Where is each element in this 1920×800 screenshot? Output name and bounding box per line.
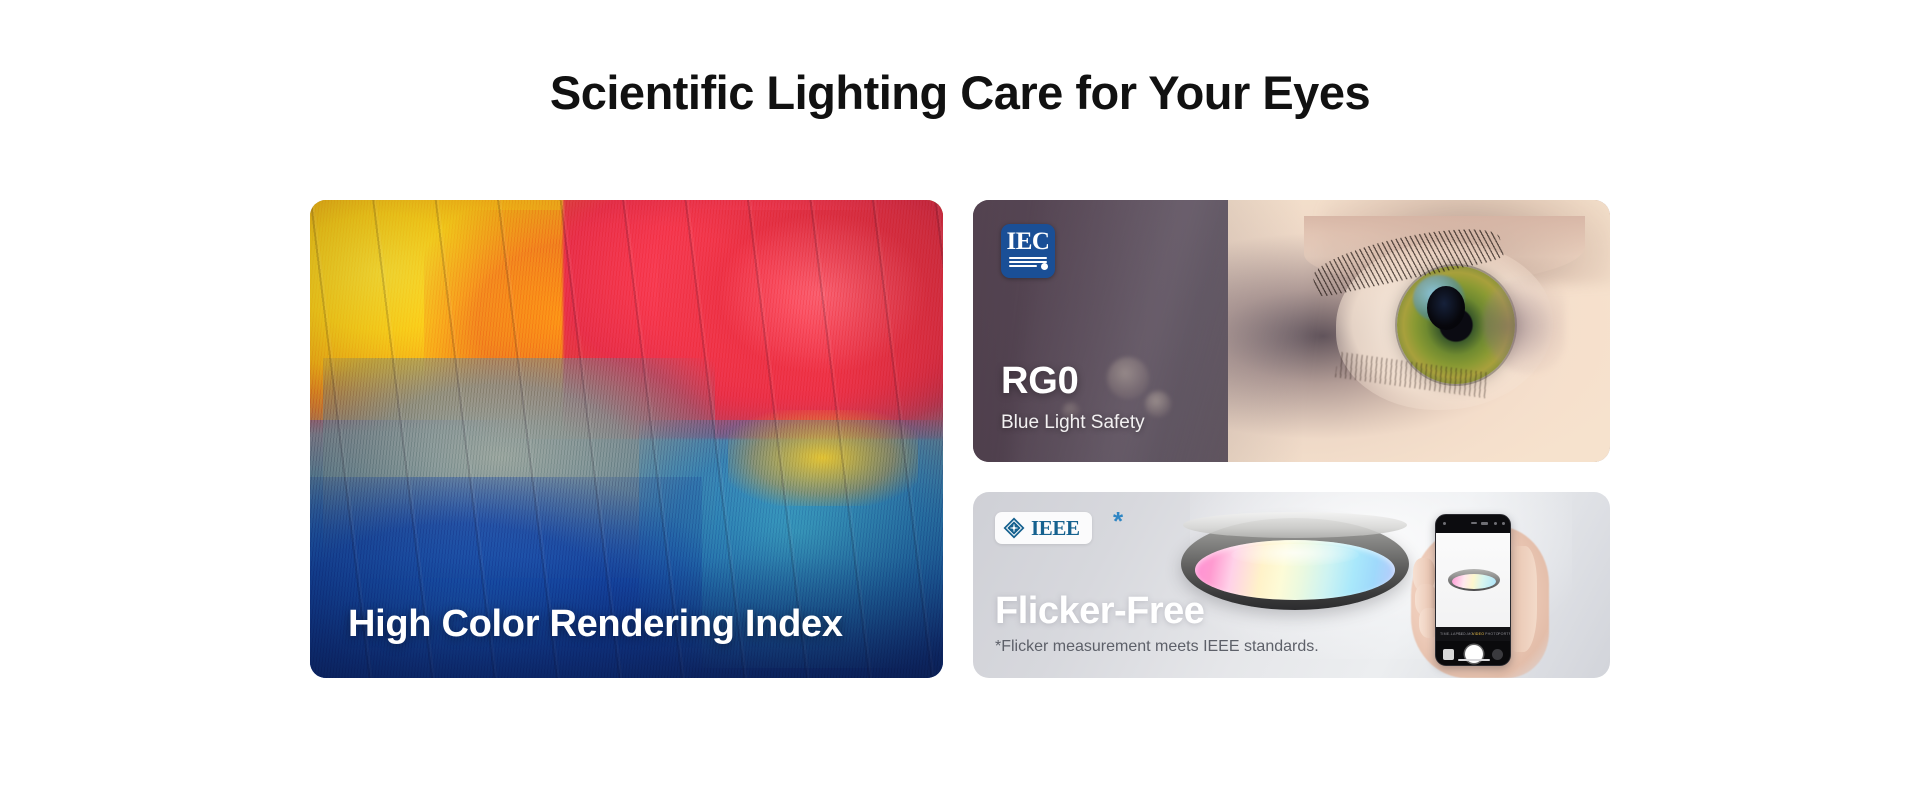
card-title-rg0: RG0 [1001,362,1079,400]
rgb-ceiling-light [1181,518,1409,610]
card-title-flicker-free: Flicker-Free [995,592,1204,630]
card-caption-high-color-rendering-index: High Color Rendering Index [348,603,843,646]
card-flicker-free[interactable]: TIME-LAPSE SLO-MO VIDEO PHOTO PORTRAIT [973,492,1610,678]
card-high-color-rendering-index[interactable]: High Color Rendering Index [310,200,943,678]
card-footnote-flicker-free: *Flicker measurement meets IEEE standard… [995,638,1319,656]
card-subtitle-blue-light-safety: Blue Light Safety [1001,412,1145,434]
camera-mode-4[interactable]: PORTRAIT [1498,632,1511,636]
camera-viewfinder [1436,533,1510,627]
ieee-diamond-icon [1003,517,1025,539]
card-blue-light-safety[interactable]: IEC RG0 Blue Light Safety [973,200,1610,462]
camera-mode-2[interactable]: VIDEO [1472,632,1484,636]
gallery-thumbnail-button[interactable] [1443,649,1454,660]
phone-status-bar [1436,515,1510,533]
iec-badge-label: IEC [1001,229,1055,254]
page-title: Scientific Lighting Care for Your Eyes [0,66,1920,120]
ieee-badge-label: IEEE [1031,516,1080,541]
flip-camera-button[interactable] [1492,649,1503,660]
camera-mode-selector[interactable]: TIME-LAPSE SLO-MO VIDEO PHOTO PORTRAIT [1436,631,1510,641]
iec-dot-graphic [1041,263,1048,270]
home-indicator [1458,659,1490,662]
ieee-certification-logo: IEEE [995,512,1092,544]
smartphone-camera-screen: TIME-LAPSE SLO-MO VIDEO PHOTO PORTRAIT [1435,514,1511,666]
camera-mode-3[interactable]: PHOTO [1485,632,1499,636]
iec-certification-logo: IEC [1001,224,1055,278]
camera-controls [1436,641,1510,665]
ieee-footnote-asterisk: * [1113,508,1123,534]
hand-holding-phone: TIME-LAPSE SLO-MO VIDEO PHOTO PORTRAIT [1407,500,1553,678]
viewfinder-ceiling-light [1448,569,1500,591]
marketing-feature-page: Scientific Lighting Care for Your Eyes H… [0,0,1920,800]
feature-card-grid: High Color Rendering Index [310,200,1610,678]
